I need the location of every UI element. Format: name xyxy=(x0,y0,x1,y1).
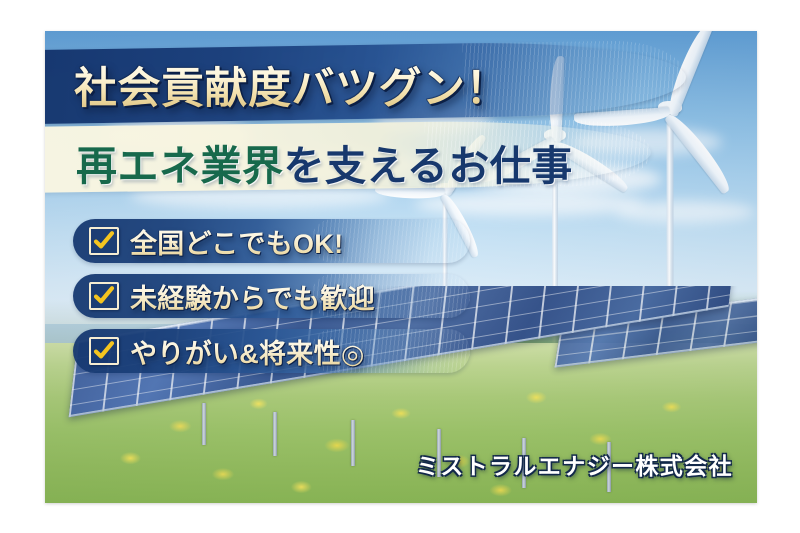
headline-primary: 社会貢献度バツグン！ xyxy=(74,54,509,116)
company-name: ミストラルエナジー株式会社 xyxy=(416,447,733,481)
recruitment-banner: 社会貢献度バツグン！ 再エネ業界を支えるお仕事 全国どこでもOK! xyxy=(45,31,757,503)
benefit-item-rewarding: やりがい&将来性◎ xyxy=(73,329,713,373)
benefit-list: 全国どこでもOK! 未経験からでも歓迎 やりがい&将来性◎ xyxy=(73,219,713,384)
checkbox-checked-icon xyxy=(89,282,119,310)
benefit-label: 未経験からでも歓迎 xyxy=(130,277,375,316)
page-root: 社会貢献度バツグン！ 再エネ業界を支えるお仕事 全国どこでもOK! xyxy=(0,0,800,533)
benefit-item-nationwide: 全国どこでもOK! xyxy=(73,219,713,263)
benefit-label: 全国どこでもOK! xyxy=(130,222,343,261)
checkbox-checked-icon xyxy=(89,227,119,255)
headline-secondary: 再エネ業界を支えるお仕事 xyxy=(76,132,573,192)
benefit-label: やりがい&将来性◎ xyxy=(130,332,365,371)
headline-secondary-green: 再エネ業界 xyxy=(76,143,284,189)
headline-secondary-navy: を支えるお仕事 xyxy=(284,143,573,189)
benefit-item-inexperienced: 未経験からでも歓迎 xyxy=(73,274,713,318)
checkbox-checked-icon xyxy=(89,337,119,365)
